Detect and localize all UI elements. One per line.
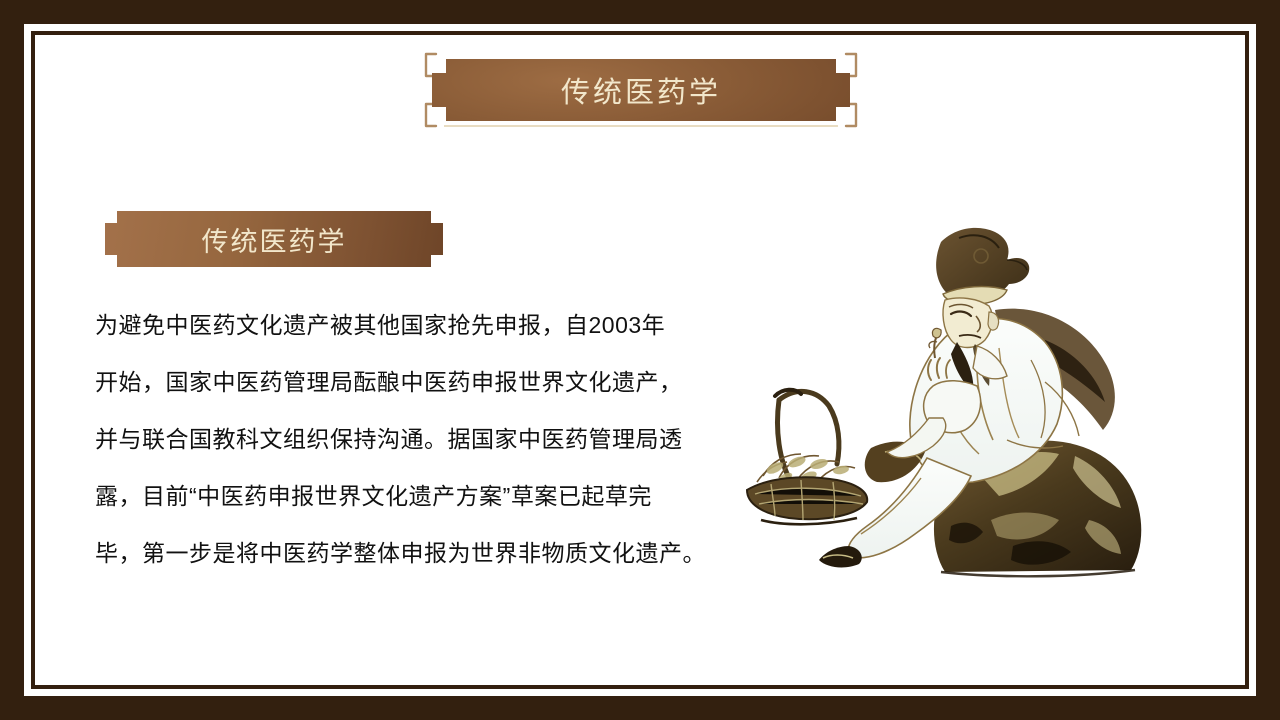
herbalist-figure-icon	[745, 190, 1175, 590]
body-line: 开始，国家中医药管理局酝酿中医药申报世界文化遗产，	[95, 354, 735, 411]
page-title: 传统医药学	[432, 59, 850, 121]
section-heading-label: 传统医药学	[105, 211, 443, 267]
body-line: 并与联合国教科文组织保持沟通。据国家中医药管理局透	[95, 411, 735, 468]
herbalist-ink-painting-illustration	[745, 190, 1175, 590]
body-line: 为避免中医药文化遗产被其他国家抢先申报，自2003年	[95, 297, 735, 354]
body-line: 露，目前“中医药申报世界文化遗产方案”草案已起草完	[95, 468, 735, 525]
body-paragraph: 为避免中医药文化遗产被其他国家抢先申报，自2003年 开始，国家中医药管理局酝酿…	[95, 297, 735, 582]
section-heading-banner: 传统医药学	[105, 211, 443, 267]
body-line: 毕，第一步是将中医药学整体申报为世界非物质文化遗产。	[95, 525, 735, 582]
slide-canvas: 传统医药学 传统医药学 为避免中医药文化遗产被其他国家抢先申报，自2003年 开…	[0, 0, 1280, 720]
title-banner: 传统医药学	[424, 52, 858, 128]
